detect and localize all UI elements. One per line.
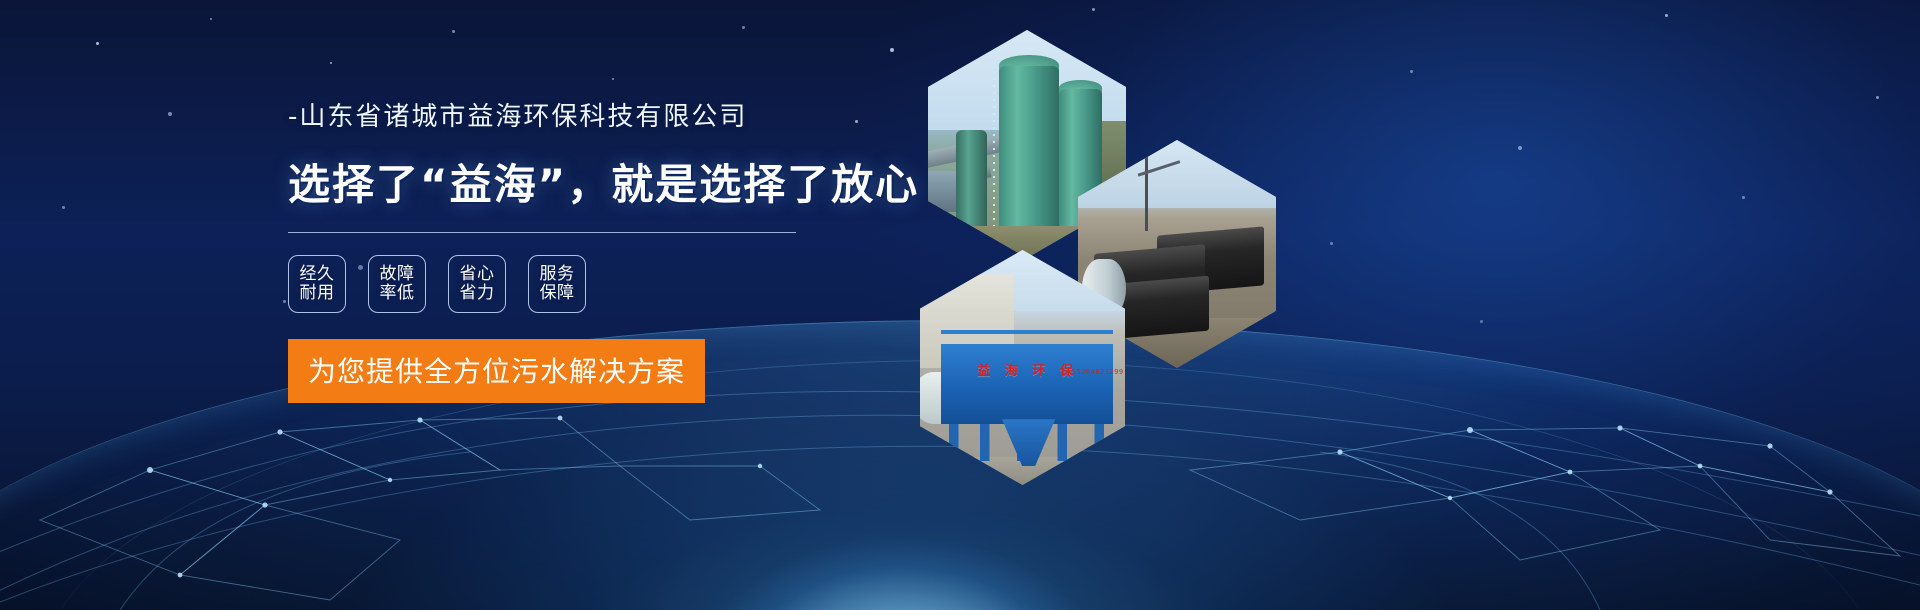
feature-badge-group: 经久 耐用 故障 率低 省心 省力 服务 保障 — [288, 255, 848, 313]
badge-line-2: 省力 — [460, 284, 495, 303]
divider-rule — [288, 232, 796, 233]
feature-badge-durable[interactable]: 经久 耐用 — [288, 255, 346, 313]
feature-badge-low-failure-rate[interactable]: 故障 率低 — [368, 255, 426, 313]
badge-line-1: 故障 — [380, 265, 415, 284]
headline: 选择了“益海”，就是选择了放心 — [288, 151, 848, 212]
badge-line-1: 经久 — [300, 265, 335, 284]
badge-line-2: 耐用 — [300, 284, 335, 303]
badge-line-2: 保障 — [540, 284, 575, 303]
hero-banner: -山东省诸城市益海环保科技有限公司 选择了“益海”，就是选择了放心 经久 耐用 … — [0, 0, 1920, 610]
badge-line-1: 服务 — [540, 265, 575, 284]
hexagon-photo-cluster: 益 海 环 保 15264821299 — [880, 0, 1360, 610]
machine-phone-text: 15264821299 — [1072, 368, 1124, 376]
badge-line-1: 省心 — [460, 265, 495, 284]
feature-badge-service-guarantee[interactable]: 服务 保障 — [528, 255, 586, 313]
cta-solution-banner[interactable]: 为您提供全方位污水解决方案 — [288, 339, 705, 403]
company-name-line: -山东省诸城市益海环保科技有限公司 — [288, 96, 848, 133]
banner-text-column: -山东省诸城市益海环保科技有限公司 选择了“益海”，就是选择了放心 经久 耐用 … — [288, 96, 848, 403]
feature-badge-worry-free[interactable]: 省心 省力 — [448, 255, 506, 313]
badge-line-2: 率低 — [380, 284, 415, 303]
